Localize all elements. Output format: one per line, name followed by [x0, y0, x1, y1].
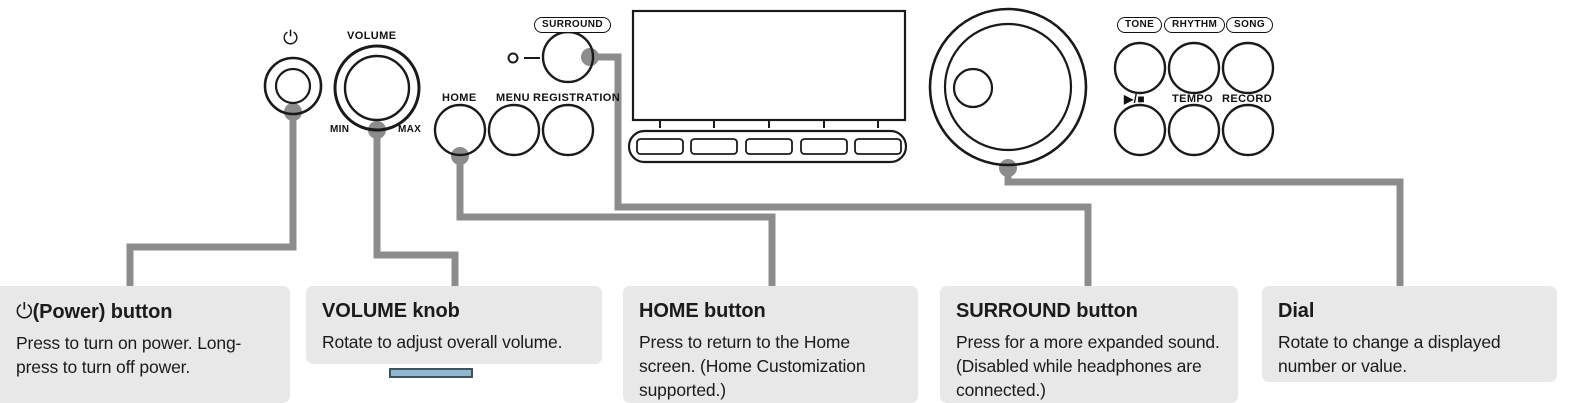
dial	[930, 9, 1086, 165]
tempo-button-label: TEMPO	[1172, 93, 1213, 105]
record-button	[1223, 105, 1273, 155]
softkey-4	[801, 139, 847, 154]
power-icon-glyph: ⏻	[16, 300, 33, 323]
tone-button-label: TONE	[1117, 17, 1162, 33]
menu-button-label: MENU	[496, 92, 530, 104]
callout-surround-button: SURROUND button Press for a more expande…	[940, 286, 1238, 403]
softkey-2	[691, 139, 737, 154]
callout-power-title: ⏻(Power) button	[16, 300, 274, 324]
callout-volume-body: Rotate to adjust overall volume.	[322, 330, 586, 354]
leader-dot-dial	[999, 159, 1017, 177]
softkey-3	[746, 139, 792, 154]
softkey-1	[637, 139, 683, 154]
play-stop-button	[1115, 105, 1165, 155]
song-button	[1223, 43, 1273, 93]
volume-knob-label: VOLUME	[347, 30, 396, 42]
callout-surround-title: SURROUND button	[956, 300, 1222, 323]
callout-home-button: HOME button Press to return to the Home …	[623, 286, 918, 403]
leader-dot-surround	[581, 48, 599, 66]
menu-button	[489, 105, 539, 155]
registration-button	[543, 105, 593, 155]
callout-volume-title: VOLUME knob	[322, 300, 586, 323]
dial-finger-indent	[954, 69, 992, 107]
tone-button	[1115, 43, 1165, 93]
volume-min-label: MIN	[330, 124, 349, 135]
record-button-label: RECORD	[1222, 93, 1272, 105]
callout-home-body: Press to return to the Home screen. (Hom…	[639, 330, 902, 402]
play-stop-icon: ▶/■	[1124, 92, 1145, 106]
rhythm-button	[1169, 43, 1219, 93]
leader-line-volume	[377, 130, 455, 288]
song-button-label: SONG	[1226, 17, 1273, 33]
surround-button-label: SURROUND	[534, 17, 611, 33]
home-button-label: HOME	[442, 92, 477, 104]
rhythm-button-label: RHYTHM	[1164, 17, 1225, 33]
volume-indicator-bar[interactable]	[389, 368, 473, 378]
volume-max-label: MAX	[398, 124, 421, 135]
softkey-bar	[629, 131, 906, 162]
callout-dial-title: Dial	[1278, 300, 1541, 323]
panel-guide-diagram: ⏻ VOLUME MIN MAX HOME MENU REGISTRATION …	[0, 0, 1582, 403]
power-icon: ⏻	[283, 28, 298, 50]
callout-dial: Dial Rotate to change a displayed number…	[1262, 286, 1557, 382]
leader-line-dial	[1008, 168, 1400, 288]
tempo-button	[1169, 105, 1219, 155]
callout-volume-knob: VOLUME knob Rotate to adjust overall vol…	[306, 286, 602, 364]
lcd-display	[633, 11, 905, 120]
callout-surround-body: Press for a more expanded sound. (Disabl…	[956, 330, 1222, 402]
callout-power-button: ⏻(Power) button Press to turn on power. …	[0, 286, 290, 403]
softkey-5	[855, 139, 901, 154]
softkey-ticks	[660, 121, 878, 128]
registration-button-label: REGISTRATION	[533, 92, 620, 104]
volume-knob	[335, 46, 419, 130]
callout-home-title: HOME button	[639, 300, 902, 323]
callout-power-body: Press to turn on power. Long-press to tu…	[16, 331, 274, 379]
surround-led-indicator	[509, 54, 541, 63]
leader-line-power	[130, 112, 293, 288]
callout-dial-body: Rotate to change a displayed number or v…	[1278, 330, 1541, 378]
